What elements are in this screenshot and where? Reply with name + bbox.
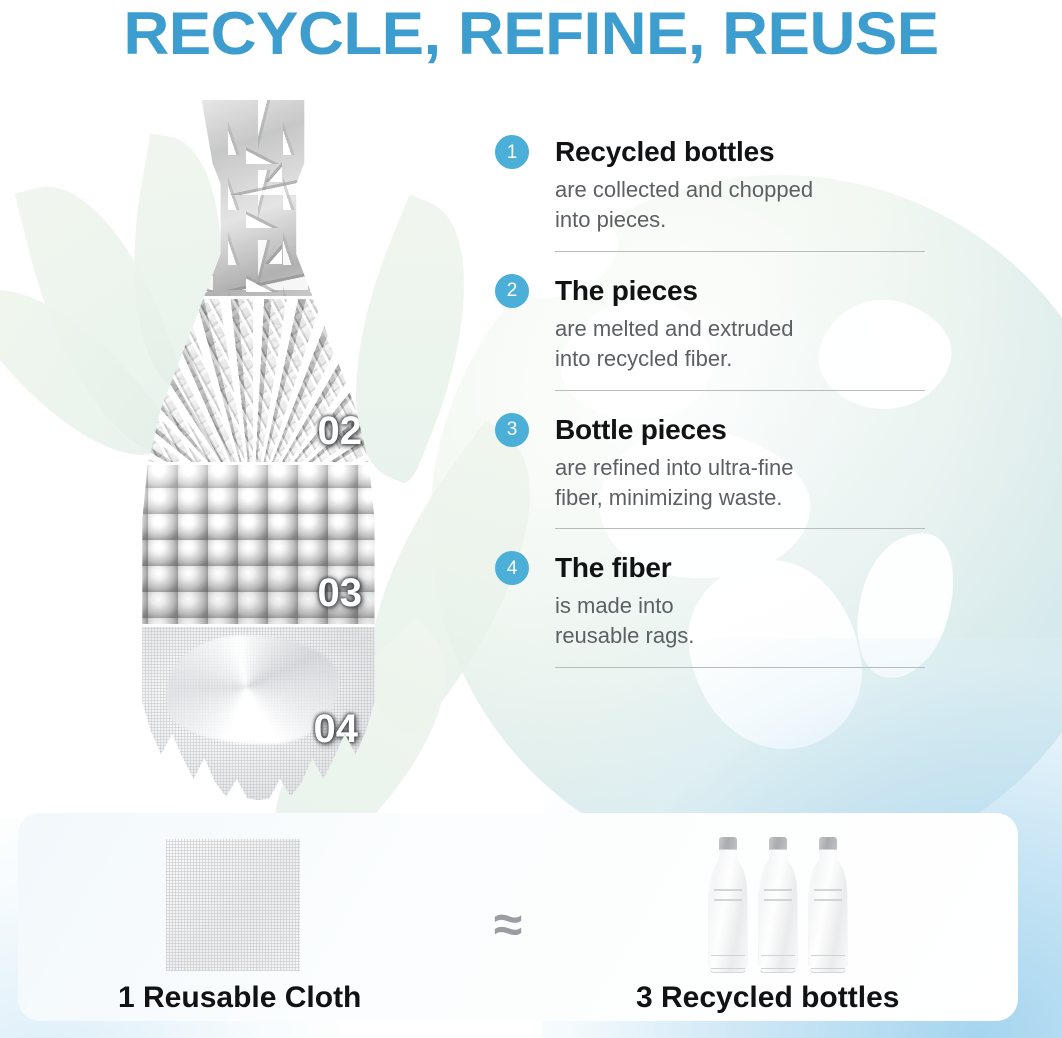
step-title: The fiber xyxy=(555,552,671,584)
reusable-cloth-swatch xyxy=(166,839,300,971)
band-number-label: 04 xyxy=(314,707,359,752)
process-step-1: 1 Recycled bottles are collected and cho… xyxy=(495,135,935,252)
bottle-icon xyxy=(808,837,848,973)
bottle-icon xyxy=(708,837,748,973)
bottle-base-icon xyxy=(761,955,795,969)
approximately-equal-icon: ≈ xyxy=(478,899,538,951)
band-number-label: 01 xyxy=(318,243,363,288)
step-header: 4 The fiber xyxy=(495,551,935,585)
bottle-cap-icon xyxy=(719,837,737,850)
band-number-label: 03 xyxy=(318,571,363,616)
comparison-card: ≈ 1 Reusable Cloth 3 Recycled xyxy=(18,813,1018,1021)
process-step-2: 2 The pieces are melted and extruded int… xyxy=(495,274,935,391)
process-step-3: 3 Bottle pieces are refined into ultra-f… xyxy=(495,413,935,530)
step-description: are collected and chopped into pieces. xyxy=(555,175,935,235)
step-number-badge: 2 xyxy=(495,274,529,308)
step-divider xyxy=(555,251,925,252)
recycled-bottles-group xyxy=(708,827,858,977)
step-description: is made into reusable rags. xyxy=(555,591,935,651)
comparison-left-label: 1 Reusable Cloth xyxy=(118,981,361,1015)
bottle-cap-icon xyxy=(769,837,787,850)
step-number-badge: 4 xyxy=(495,551,529,585)
process-steps-list: 1 Recycled bottles are collected and cho… xyxy=(495,135,935,668)
step-description: are refined into ultra-fine fiber, minim… xyxy=(555,453,935,513)
bottle-silhouette: 01 02 03 04 xyxy=(118,100,388,800)
step-divider xyxy=(555,528,925,529)
pet-flakes-texture xyxy=(118,100,388,296)
bottle-band-02: 02 xyxy=(118,296,388,462)
process-step-4: 4 The fiber is made into reusable rags. xyxy=(495,551,935,668)
bottle-base-icon xyxy=(811,955,845,969)
step-number-badge: 3 xyxy=(495,413,529,447)
step-header: 2 The pieces xyxy=(495,274,935,308)
step-title: Recycled bottles xyxy=(555,136,774,168)
bottle-illustration: 01 02 03 04 xyxy=(118,100,388,800)
bottle-band-04: 04 xyxy=(118,624,388,800)
bottle-base-icon xyxy=(711,955,745,969)
step-divider xyxy=(555,390,925,391)
band-divider xyxy=(118,296,388,299)
bottle-cap-icon xyxy=(819,837,837,850)
bottle-rings-icon xyxy=(764,885,792,907)
bottle-band-01: 01 xyxy=(118,100,388,296)
band-divider xyxy=(118,462,388,465)
step-header: 1 Recycled bottles xyxy=(495,135,935,169)
bottle-rings-icon xyxy=(814,885,842,907)
bottle-icon xyxy=(758,837,798,973)
page-title: RECYCLE, REFINE, REUSE xyxy=(0,2,1062,65)
comparison-right-label: 3 Recycled bottles xyxy=(636,981,899,1015)
step-number-badge: 1 xyxy=(495,135,529,169)
step-description: are melted and extruded into recycled fi… xyxy=(555,314,935,374)
step-header: 3 Bottle pieces xyxy=(495,413,935,447)
band-number-label: 02 xyxy=(318,409,363,454)
infographic-poster: RECYCLE, REFINE, REUSE 01 02 03 04 xyxy=(0,0,1062,1038)
bottle-rings-icon xyxy=(714,885,742,907)
step-divider xyxy=(555,667,925,668)
bottle-band-03: 03 xyxy=(118,462,388,624)
step-title: The pieces xyxy=(555,275,698,307)
band-divider xyxy=(118,624,388,627)
step-title: Bottle pieces xyxy=(555,414,727,446)
